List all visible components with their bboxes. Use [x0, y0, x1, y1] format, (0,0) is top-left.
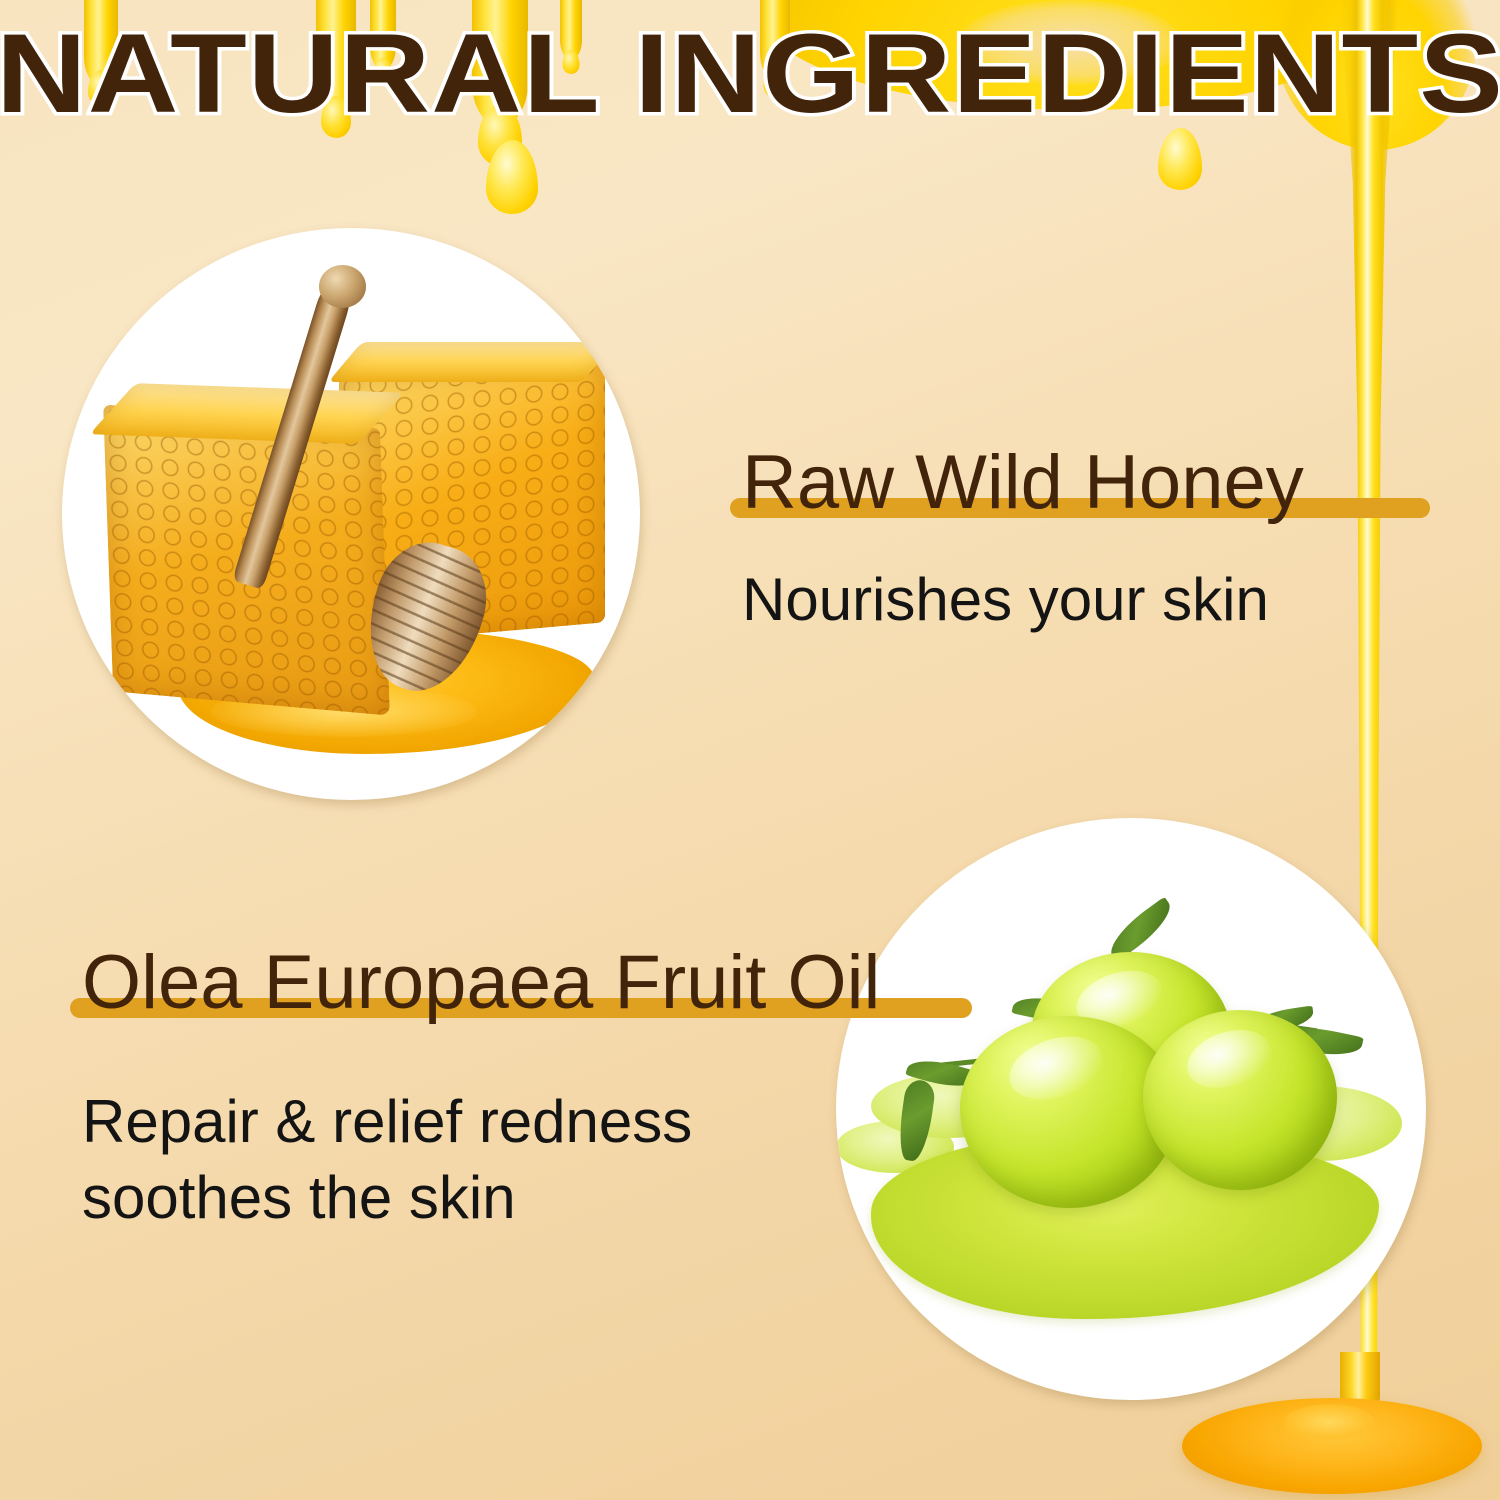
honeycomb-image: [62, 228, 640, 800]
natural-ingredients-poster: NATURAL INGREDIENTS Raw Wild Honey Nouri…: [0, 0, 1500, 1500]
ingredient-olive-name-line: Olea Europaea: [82, 938, 593, 1028]
ingredient-olive-description-line: soothes the skin: [82, 1160, 842, 1237]
ingredient-olive-name: Olea Europaea Fruit Oil: [82, 938, 880, 1028]
ingredient-honey-name: Raw Wild Honey: [742, 438, 1304, 528]
olive-illustration: [836, 818, 1426, 1400]
honeycomb-block-front-top-icon: [89, 383, 404, 444]
ingredient-honey-name-line: Raw Wild Honey: [742, 438, 1304, 528]
olive-image: [836, 818, 1426, 1400]
honey-dipper-knob-icon: [319, 265, 366, 308]
honeycomb-illustration: [62, 228, 640, 800]
honey-droplet-icon: [486, 140, 538, 214]
ingredient-olive-text: Olea Europaea Fruit Oil Repair & relief …: [82, 938, 842, 1237]
ingredient-honey-text: Raw Wild Honey Nourishes your skin: [742, 438, 1442, 638]
ingredient-honey-description: Nourishes your skin: [742, 562, 1442, 639]
honey-droplet-icon: [1158, 128, 1202, 190]
honeycomb-block-back-top-icon: [328, 342, 616, 382]
honey-pool-icon: [1182, 1398, 1482, 1494]
ingredient-olive-description: Repair & relief redness soothes the skin: [82, 1084, 842, 1238]
ingredient-olive-description-line: Repair & relief redness: [82, 1084, 842, 1161]
ingredient-olive-name-line: Fruit Oil: [614, 938, 880, 1028]
page-title: NATURAL INGREDIENTS: [0, 18, 1500, 130]
